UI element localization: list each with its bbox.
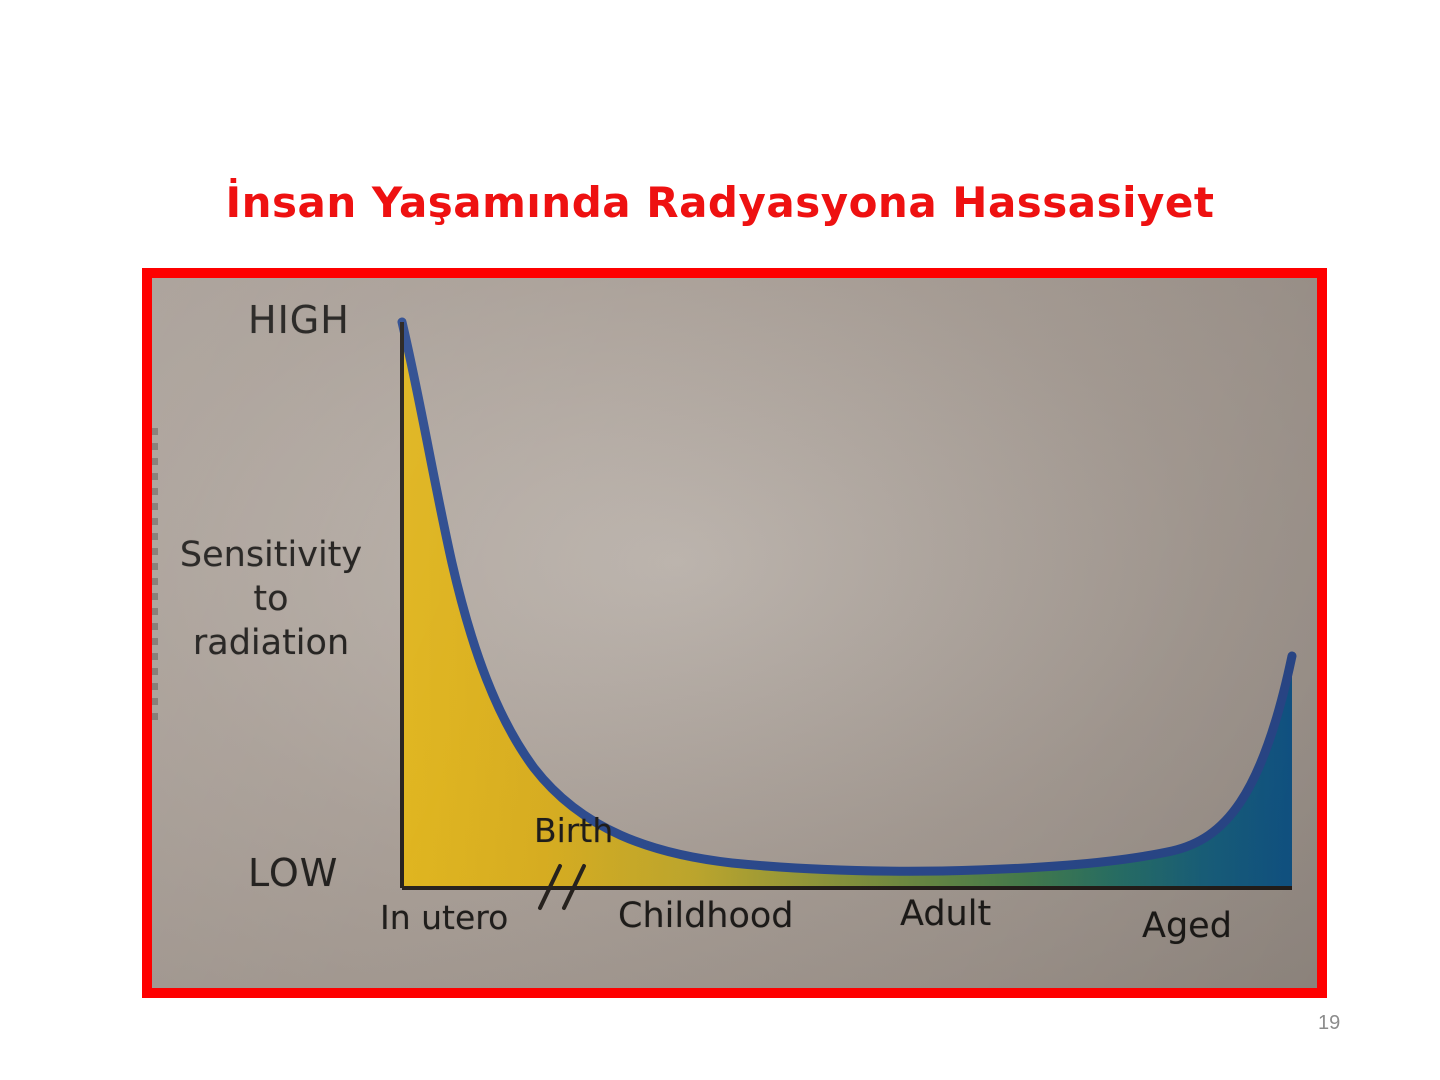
x-axis-label-adult: Adult xyxy=(900,894,991,934)
sensitivity-area-fill xyxy=(402,322,1292,888)
x-axis-label-childhood: Childhood xyxy=(618,896,794,936)
y-axis-title-line-2: to xyxy=(152,577,390,621)
y-axis-label-low: LOW xyxy=(248,851,338,895)
x-axis-label-in-utero: In utero xyxy=(380,898,508,937)
slide-title: İnsan Yaşamında Radyasyona Hassasiyet xyxy=(0,178,1440,227)
y-axis-title-line-1: Sensitivity xyxy=(152,533,390,577)
y-axis-title-line-3: radiation xyxy=(152,621,390,665)
x-axis-label-aged: Aged xyxy=(1142,906,1232,946)
figure-frame: HIGH LOW Sensitivity to radiation Birth … xyxy=(142,268,1327,998)
y-axis-label-high: HIGH xyxy=(248,298,350,342)
annotation-birth: Birth xyxy=(534,811,613,850)
y-axis-title: Sensitivity to radiation xyxy=(152,533,390,665)
page-number: 19 xyxy=(1318,1012,1340,1035)
